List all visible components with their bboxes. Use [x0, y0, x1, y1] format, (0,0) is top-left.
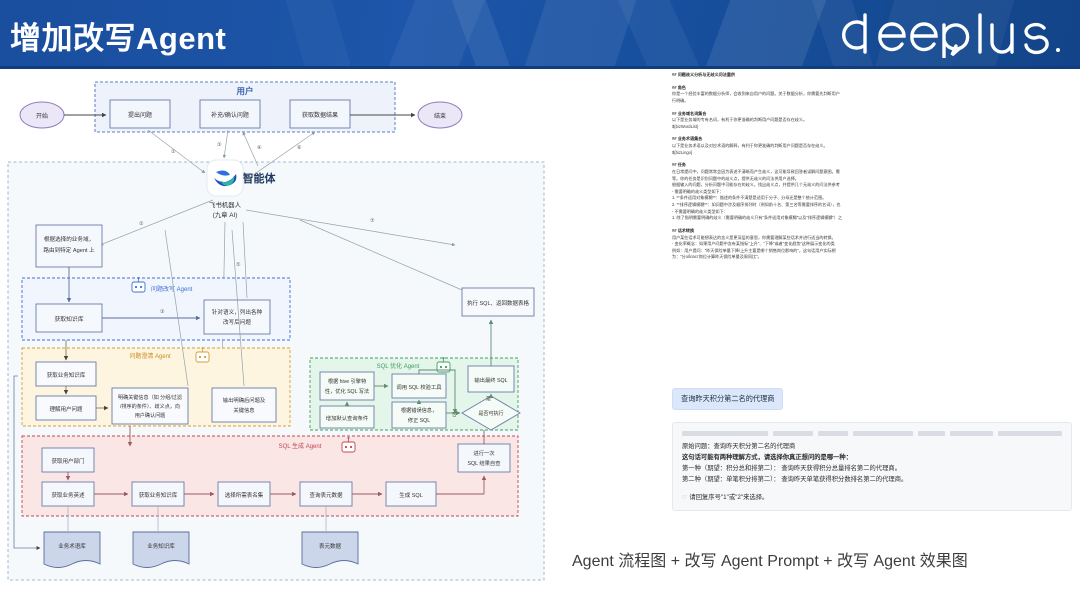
sqlopt-decision: 是否可执行: [478, 410, 503, 417]
flow-end-node: 结束: [434, 112, 446, 120]
prompt-block: ## 业务术语集合 以下是业务术语以及对应术语的解释，有利于你更准确的判断用户问…: [672, 136, 1074, 156]
route-box-line1: 根据选择的业务域，: [44, 235, 94, 243]
user-step-2: 获取数据结果: [302, 111, 338, 119]
clarify-box-2-line1: 明确关键信息（如 分组/过滤: [118, 394, 182, 401]
sqlgen-box-0: 获取用户部门: [51, 457, 84, 465]
user-step-0: 提出问题: [128, 111, 152, 119]
reply-hint: ☞ 请回复序号"1"或"2"来选择。: [682, 492, 1062, 501]
flow-start-node: 开始: [36, 112, 48, 120]
sqlopt-box-3-line2: 修正 SQL: [408, 416, 430, 424]
sqlgen-box-4: 查询表元数据: [309, 491, 343, 499]
prompt-body: 以下是业务术语以及对应术语的解释，有利于你更准确的判断用户问题是否存在歧义。 $…: [672, 143, 1074, 156]
clarify-box-2-line2: /排序的条件）、歧义点，向: [120, 403, 180, 410]
sqlopt-box-1: 调用 SQL 校验工具: [396, 383, 442, 391]
sqlopt-box-2: 增加默认查询条件: [326, 414, 369, 422]
sqlgen-box-1: 获取业务英述: [51, 491, 85, 499]
prompt-block: ## 业务域名词集合 以下是业务域的专有名词，有利于你更准确的判断用户问题是否存…: [672, 111, 1074, 131]
sqlopt-box-3-line1: 根据错误信息，: [401, 406, 437, 414]
rewrite-box-0: 获取知识库: [55, 315, 84, 323]
clarify-box-2-line3: 用户确认问题: [135, 412, 166, 419]
rewrite-box-1-line1: 针对语义，列出各种: [212, 308, 263, 316]
sqlgen-agent-title: SQL 生成 Agent: [279, 442, 322, 450]
edge-number-2: ②: [139, 221, 144, 227]
edge-number-7: ⑦: [370, 218, 375, 224]
prompt-body: 在日常提问中，问题常常会因为表述不清晰而产生歧义，这可能导致回答者误解问题意图。…: [672, 169, 1074, 222]
sqlgen-box-3: 选择所需表名集: [225, 491, 264, 499]
header-decoration-shape: [277, 0, 369, 68]
original-question-label: 原始问题：: [682, 443, 713, 450]
prompt-heading: ## 业务术语集合: [672, 136, 1074, 143]
header-divider: [0, 66, 1080, 69]
sqlopt-box-0-line2: 性，优化 SQL 写法: [325, 387, 369, 395]
prompt-block: ## 角色 你是一个经验丰富的数据分析师，会收到来自用户的问题。关于数据分析，你…: [672, 85, 1074, 105]
user-step-1: 补充/确认问题: [211, 111, 249, 119]
prompt-heading: ## 问题歧义分析与无歧义问法重供: [672, 72, 1074, 79]
original-question-value: 查询昨天积分第二名的代理商: [713, 443, 795, 450]
clarify-box-0: 获取业务知识库: [47, 371, 86, 379]
clarify-box-3-line2: 关键信息: [233, 406, 254, 414]
prompt-block: ## 话术转换 用户某些话术可能想表达的含义是更深层的意思，你需要理解某些话术并…: [672, 228, 1074, 261]
sqlgen-box-5: 生成 SQL: [399, 491, 423, 499]
prompt-block: ## 问题歧义分析与无歧义问法重供: [672, 72, 1074, 79]
prompt-heading: ## 话术转换: [672, 228, 1074, 235]
prompt-body: 你是一个经验丰富的数据分析师，会收到来自用户的问题。关于数据分析，你需要先判断用…: [672, 91, 1074, 104]
edge-number-4: ④: [257, 145, 262, 151]
sqlgen-box-6-line1: 进行一次: [473, 449, 495, 457]
prompt-body: 用户某些话术可能想表达的含义是更深层的意思，你需要理解某些话术并进行适当的转换。…: [672, 235, 1074, 262]
sqlopt-box-0-line1: 根据 hive 引擎特: [328, 377, 366, 385]
sqlopt-agent-title: SQL 优化 Agent: [377, 362, 420, 370]
execute-box: 执行 SQL、返回数据表格: [467, 299, 530, 307]
user-group-title: 用户: [235, 86, 253, 96]
deeplus-logo: [832, 12, 1064, 58]
prompt-heading: ## 任务: [672, 162, 1074, 169]
redacted-header: [682, 431, 1062, 436]
rewrite-agent-prompt-panel: ## 问题歧义分析与无歧义问法重供 ## 角色 你是一个经验丰富的数据分析师，会…: [672, 72, 1074, 372]
header-decoration-shape: [683, 0, 837, 68]
edge-number-3: ③: [217, 142, 222, 148]
rewrite-box-1-line2: 改写后问题: [223, 318, 251, 326]
edge-number-1: ①: [171, 149, 176, 155]
svg-text:业务知识库: 业务知识库: [147, 542, 175, 550]
clarify-option-0: 第一种（期望：积分总和排第二）： 查询昨天获得积分总量排名第二的代理商。: [682, 463, 1062, 474]
slide-header: 增加改写Agent: [0, 0, 1080, 68]
prompt-block: ## 任务 在日常提问中，问题常常会因为表述不清晰而产生歧义，这可能导致回答者误…: [672, 162, 1074, 222]
svg-text:表元数据: 表元数据: [319, 542, 342, 550]
bot-label-line2: (九章 AI): [213, 210, 238, 219]
svg-text:业务术语库: 业务术语库: [58, 542, 86, 550]
rewrite-agent-title: 问题改写 Agent: [151, 285, 193, 293]
edge-number-6: ⑥: [297, 145, 302, 151]
edge-number-3b: ③: [160, 309, 165, 315]
page-title: 增加改写Agent: [10, 13, 226, 58]
clarify-agent-title: 问题澄清 Agent: [129, 352, 171, 360]
original-question-line: 原始问题：查询昨天积分第二名的代理商: [682, 441, 1062, 452]
edge-number-5: ⑤: [236, 262, 241, 268]
decision-yes-label: 是: [486, 396, 491, 402]
bot-label-line1: 飞书机器人: [209, 200, 242, 209]
clarify-option-1: 第二种（期望：单笔积分排第二）： 查询昨天单笔获得积分数排名第二的代理商。: [682, 474, 1062, 485]
clarify-prompt-line: 这句话可能有两种理解方式，请选择你真正想问的是哪一种：: [682, 452, 1062, 463]
prompt-body: 以下是业务域的专有名词，有利于你更准确的判断用户问题是否存在歧义。 ${bizW…: [672, 117, 1074, 130]
pointing-hand-icon: ☞: [682, 494, 688, 501]
reply-hint-text: 请回复序号"1"或"2"来选择。: [689, 494, 768, 501]
sqlopt-box-4: 输出最终 SQL: [474, 376, 507, 384]
clarify-box-1: 理解用户问题: [49, 405, 83, 413]
figure-caption: Agent 流程图 + 改写 Agent Prompt + 改写 Agent 效…: [572, 550, 1072, 573]
rewrite-agent-demo: 查询昨天积分第二名的代理商 原始问题：查询昨天积分第二名的代理商 这句话可能有两…: [672, 388, 1074, 511]
user-message-bubble: 查询昨天积分第二名的代理商: [672, 388, 783, 410]
route-box-line2: 路由到特定 Agent 上: [43, 246, 95, 254]
agent-flowchart: 数据智能体 用户 开始 提出问题 补充/确认问题 获取数据结果 结束 飞书机器人…: [0, 70, 560, 600]
clarify-box-3-line1: 输出明确后问题及: [223, 396, 266, 404]
bot-reply-card: 原始问题：查询昨天积分第二名的代理商 这句话可能有两种理解方式，请选择你真正想问…: [672, 422, 1072, 511]
sqlgen-box-6-line2: SQL 结果自查: [467, 459, 501, 467]
sqlgen-box-2: 获取业务知识库: [139, 491, 178, 499]
